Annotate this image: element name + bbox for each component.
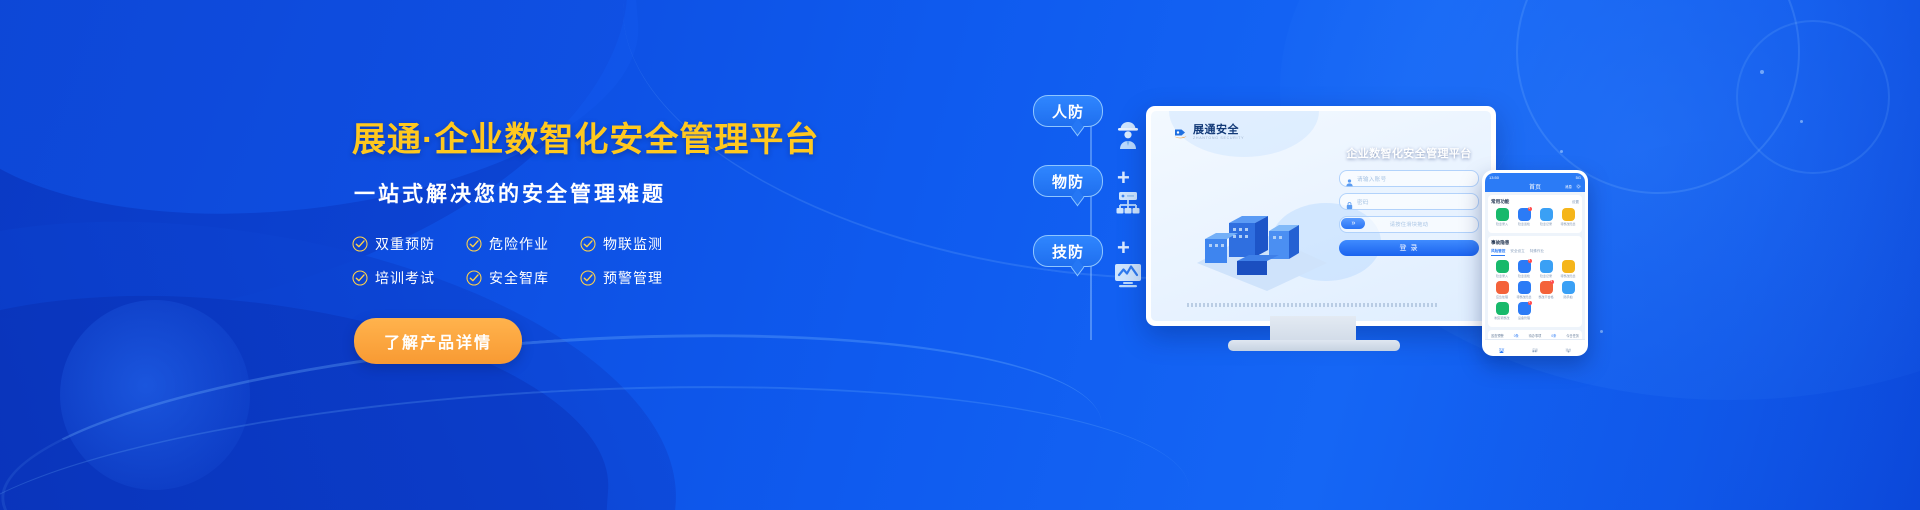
status-right: 5G [1576, 175, 1581, 180]
badge-label: 技防 [1052, 241, 1084, 262]
app-label: 随手拍 [1557, 295, 1579, 299]
lock-icon [1345, 197, 1354, 206]
hardhat-worker-icon [1111, 117, 1145, 151]
learn-more-button[interactable]: 了解产品详情 [354, 318, 522, 364]
app-tile[interactable]: 应急处理 [1491, 281, 1513, 299]
badge-label: 物防 [1052, 171, 1084, 192]
app-tile[interactable]: 待整改隐患 [1557, 208, 1579, 226]
home-icon [1499, 342, 1504, 347]
app-label: 整改不合格 [1535, 295, 1557, 299]
app-tile[interactable]: 待整改隐患 [1557, 260, 1579, 278]
phone-nav-bar: 首页 消息 [1485, 181, 1585, 192]
summary-label: 待办事项 [1529, 333, 1542, 338]
notification-badge: 3 [1550, 280, 1554, 284]
feature-list: 双重预防 危险作业 物联监测 [352, 234, 832, 288]
logo-text-block: 展通安全 ZHANTONG SECURITY [1193, 125, 1244, 141]
inspection-icon: 6 [1518, 208, 1531, 221]
phone-screen: 13:50 5G 首页 消息 常用功能 设置 隐患录入 [1485, 173, 1585, 353]
section-action[interactable]: 设置 [1572, 200, 1579, 205]
section-header: 事故隐患 [1491, 240, 1579, 246]
person-icon [1566, 342, 1571, 347]
summary-value: 0条 [1514, 333, 1519, 338]
background-curve-2 [0, 357, 1196, 510]
tab-item[interactable]: 风险管控 [1491, 249, 1505, 256]
phone-tab-bar: 首页 应用 我的 [1485, 339, 1585, 353]
password-field[interactable]: 密码 [1339, 193, 1479, 210]
app-tile[interactable]: 隐患录入 [1491, 208, 1513, 226]
status-time: 13:50 [1489, 175, 1499, 180]
app-tile[interactable]: 6 隐患巡检 [1513, 260, 1535, 278]
plus-sign: + [1117, 237, 1130, 259]
user-icon [1345, 174, 1354, 183]
rail-connector-line [1090, 125, 1092, 340]
sparkle-dot [1800, 120, 1803, 123]
check-circle-icon [466, 270, 482, 286]
app-tile[interactable]: 3 整改不合格 [1535, 281, 1557, 299]
plus-sign: + [1117, 167, 1130, 189]
section-title: 常用功能 [1491, 199, 1509, 205]
app-tile[interactable]: 隐患录入 [1491, 260, 1513, 278]
record-icon [1540, 260, 1553, 273]
badge-renfang[interactable]: 人防 [1033, 95, 1103, 127]
mobile-phone-mockup: 13:50 5G 首页 消息 常用功能 设置 隐患录入 [1482, 170, 1588, 356]
plan-icon [1496, 302, 1509, 315]
camera-icon [1562, 281, 1575, 294]
notification-badge: 6 [1528, 259, 1532, 263]
app-label: 待整改隐患 [1557, 274, 1579, 278]
inspection-icon: 6 [1518, 260, 1531, 273]
footer-fineprint [1187, 303, 1437, 307]
desktop-monitor: 展通安全 ZHANTONG SECURITY [1146, 106, 1496, 326]
sparkle-dot [1560, 150, 1563, 153]
app-tile[interactable]: 2 设备管理 [1513, 302, 1535, 320]
phone-status-bar: 13:50 5G [1485, 173, 1585, 181]
background-circle-left [60, 300, 250, 490]
username-placeholder: 请输入账号 [1357, 175, 1386, 183]
notification-badge: 2 [1528, 301, 1532, 305]
app-label: 应急处理 [1491, 295, 1513, 299]
record-icon [1540, 208, 1553, 221]
summary-row: 巡查预警 0条 待办事项 0条 今日任务 [1491, 333, 1579, 338]
city-illustration [1177, 205, 1337, 291]
app-grid: 隐患录入 6 隐患巡检 隐患记录 待整改隐患 [1491, 208, 1579, 229]
check-circle-icon [580, 270, 596, 286]
feature-label: 培训考试 [375, 268, 435, 288]
phone-section-hazards: 事故隐患 风险管控 安全设立 特殊作业 隐患录入 6 [1488, 236, 1582, 327]
login-button[interactable]: 登 录 [1339, 240, 1479, 256]
app-label: 隐患巡检 [1513, 222, 1535, 226]
summary-value: 0条 [1551, 333, 1556, 338]
tabbar-profile[interactable]: 我的 [1552, 340, 1585, 353]
app-grid: 隐患录入 6 隐患巡检 隐患记录 待整改隐患 [1491, 260, 1579, 323]
defense-rail: 人防 物防 技防 + + [1033, 95, 1153, 345]
summary-label: 巡查预警 [1491, 333, 1504, 338]
nav-title: 首页 [1529, 182, 1541, 191]
hero-copy: 展通·企业数智化安全管理平台 一站式解决您的安全管理难题 双重预防 危险作业 [352, 118, 832, 364]
app-tile[interactable]: 随手拍 [1557, 281, 1579, 299]
feature-row: 培训考试 安全智库 预警管理 [352, 268, 832, 288]
tabbar-label: 应用 [1518, 348, 1551, 352]
login-panel: 企业数智化安全管理平台 请输入账号 密码 » 请按住滑块拖动 [1339, 145, 1479, 256]
sparkle-dot [1760, 70, 1764, 74]
summary-label: 今日任务 [1566, 333, 1579, 338]
background-ring-top-right [1516, 0, 1800, 194]
tabbar-label: 首页 [1485, 348, 1518, 352]
slider-captcha[interactable]: » 请按住滑块拖动 [1339, 216, 1479, 233]
tab-item[interactable]: 特殊作业 [1530, 249, 1544, 256]
monitor-base [1228, 340, 1400, 351]
check-circle-icon [352, 270, 368, 286]
notification-badge: 6 [1528, 207, 1532, 211]
page-title: 展通·企业数智化安全管理平台 [352, 118, 832, 162]
username-field[interactable]: 请输入账号 [1339, 170, 1479, 187]
gear-icon[interactable] [1576, 184, 1581, 189]
app-tile[interactable]: 6 隐患巡检 [1513, 208, 1535, 226]
check-circle-icon [352, 236, 368, 252]
monitor-chart-icon [1111, 257, 1145, 291]
app-tile[interactable]: 隐患记录 [1535, 208, 1557, 226]
doc-edit-icon [1496, 260, 1509, 273]
app-tile[interactable]: 制定项整改 [1491, 302, 1513, 320]
fail-icon: 3 [1540, 281, 1553, 294]
grid-icon [1532, 342, 1537, 347]
app-label: 隐患巡检 [1513, 274, 1535, 278]
tabbar-home[interactable]: 首页 [1485, 340, 1518, 353]
emergency-icon [1496, 281, 1509, 294]
feature-row: 双重预防 危险作业 物联监测 [352, 234, 832, 254]
tabbar-label: 我的 [1552, 348, 1585, 352]
check-circle-icon [466, 236, 482, 252]
app-label: 待整改隐患 [1557, 222, 1579, 226]
app-label: 隐患记录 [1535, 222, 1557, 226]
rectify-icon [1518, 281, 1531, 294]
feature-label: 安全智库 [489, 268, 549, 288]
monitor-screen: 展通安全 ZHANTONG SECURITY [1151, 111, 1491, 321]
check-circle-icon [580, 236, 596, 252]
badge-label: 人防 [1052, 101, 1084, 122]
feature-label: 双重预防 [375, 234, 435, 254]
badge-wufang[interactable]: 物防 [1033, 165, 1103, 197]
warning-icon [1562, 208, 1575, 221]
slider-text: 请按住滑块拖动 [1390, 221, 1428, 228]
section-header: 常用功能 设置 [1491, 199, 1579, 205]
feature-label: 危险作业 [489, 234, 549, 254]
page-subtitle: 一站式解决您的安全管理难题 [354, 178, 832, 208]
sparkle-dot [1600, 330, 1603, 333]
promo-banner: 展通·企业数智化安全管理平台 一站式解决您的安全管理难题 双重预防 危险作业 [0, 0, 1920, 510]
badge-jifang[interactable]: 技防 [1033, 235, 1103, 267]
login-heading: 企业数智化安全管理平台 [1339, 145, 1479, 161]
feature-item: 培训考试 [352, 268, 466, 288]
network-device-icon [1111, 187, 1145, 221]
app-tile[interactable]: 隐患记录 [1535, 260, 1557, 278]
nav-message-label[interactable]: 消息 [1565, 185, 1572, 190]
warning-icon [1562, 260, 1575, 273]
phone-section-common: 常用功能 设置 隐患录入 6 隐患巡检 [1488, 195, 1582, 233]
feature-label: 物联监测 [603, 234, 663, 254]
app-tile[interactable]: 待整改隐患 [1513, 281, 1535, 299]
app-label: 待整改隐患 [1513, 295, 1535, 299]
app-label: 隐患记录 [1535, 274, 1557, 278]
feature-item: 危险作业 [466, 234, 580, 254]
zhantong-logo-icon [1173, 126, 1189, 141]
section-title: 事故隐患 [1491, 240, 1509, 246]
slider-knob[interactable]: » [1341, 218, 1365, 229]
section-tabs: 风险管控 安全设立 特殊作业 [1491, 249, 1579, 256]
app-label: 制定项整改 [1491, 316, 1513, 320]
feature-label: 预警管理 [603, 268, 663, 288]
app-logo: 展通安全 ZHANTONG SECURITY [1173, 125, 1244, 141]
tab-item[interactable]: 安全设立 [1510, 249, 1524, 256]
device-icon: 2 [1518, 302, 1531, 315]
feature-item: 安全智库 [466, 268, 580, 288]
tabbar-apps[interactable]: 应用 [1518, 340, 1551, 353]
feature-item: 物联监测 [580, 234, 694, 254]
app-label: 设备管理 [1513, 316, 1535, 320]
feature-item: 预警管理 [580, 268, 694, 288]
password-placeholder: 密码 [1357, 198, 1369, 206]
background-ring-corner [1736, 20, 1890, 174]
app-label: 隐患录入 [1491, 222, 1513, 226]
logo-subtitle: ZHANTONG SECURITY [1193, 136, 1244, 141]
feature-item: 双重预防 [352, 234, 466, 254]
logo-title: 展通安全 [1193, 125, 1244, 136]
doc-edit-icon [1496, 208, 1509, 221]
app-label: 隐患录入 [1491, 274, 1513, 278]
